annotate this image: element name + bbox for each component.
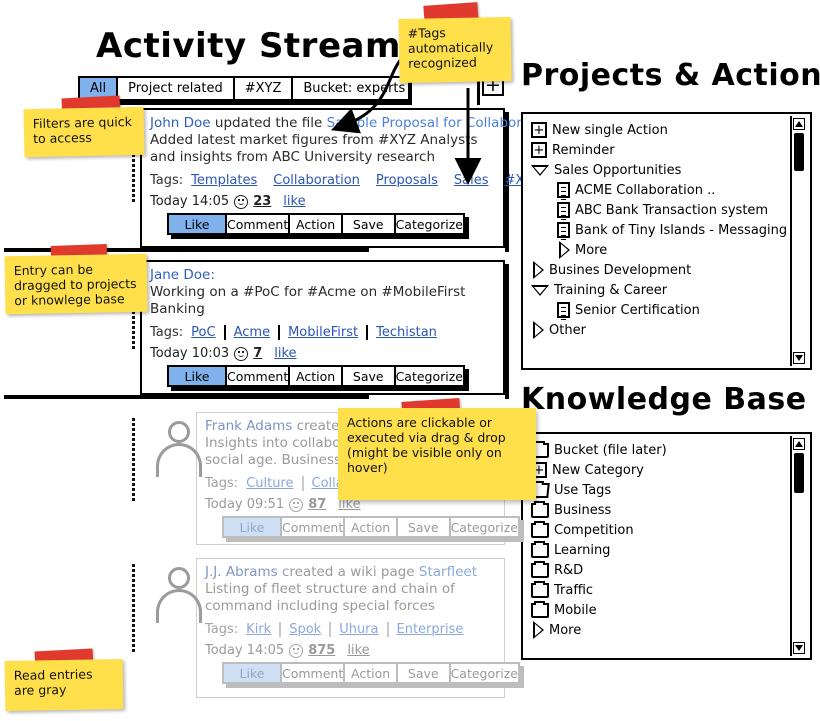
tag-link[interactable]: Proposals (376, 173, 438, 188)
tag-link[interactable]: MobileFirst (288, 325, 358, 340)
filter-tab-bar: AllProject related#XYZBucket: experts (78, 76, 408, 101)
tags-label: Tags: (150, 325, 183, 340)
categorize-button[interactable]: Categorize (451, 664, 518, 682)
knowledge-item[interactable]: Bucket (file later) (531, 440, 806, 460)
entry-actor[interactable]: John Doe (150, 115, 211, 131)
action-button[interactable]: Action (290, 367, 343, 385)
comment-button[interactable]: Comment (282, 664, 345, 682)
entry-text: Added latest market figures from #XYZ An… (150, 132, 495, 166)
project-item[interactable]: Sales Opportunities (531, 160, 806, 180)
folder-icon (531, 523, 549, 538)
tag-separator (302, 476, 304, 491)
note-actions-clickable: Actions are clickable or executed via dr… (338, 408, 536, 500)
smiley-icon (289, 498, 303, 512)
tag-link[interactable]: Uhura (339, 622, 378, 637)
tag-separator (366, 325, 368, 340)
comment-button[interactable]: Comment (282, 518, 345, 536)
note-tags-recognized: #Tags automatically recognized (398, 17, 511, 83)
project-item[interactable]: Busines Development (531, 260, 806, 280)
project-item-label: ACME Collaboration .. (575, 183, 715, 198)
avatar-shoulders (156, 443, 202, 477)
entry-actor[interactable]: Frank Adams (205, 418, 292, 434)
avatar-head (168, 567, 190, 589)
entry-timestamp: Today 14:05 (150, 194, 229, 209)
knowledge-item-label: Bucket (file later) (554, 443, 667, 458)
like-count: 7 (253, 346, 262, 361)
action-button[interactable]: Action (345, 664, 398, 682)
projects-scrollbar[interactable] (790, 116, 808, 366)
document-icon (557, 182, 570, 198)
comment-button[interactable]: Comment (227, 367, 290, 385)
tab-bar-shadow-side (408, 80, 412, 105)
folder-icon (531, 543, 549, 558)
project-item-label: ABC Bank Transaction system (575, 203, 768, 218)
entry-text: Listing of fleet structure and chain of … (205, 581, 496, 615)
triangle-right-icon (533, 621, 544, 639)
knowledge-item-label: New Category (552, 463, 644, 478)
knowledge-item-label: Competition (554, 523, 634, 538)
tag-link[interactable]: Collaboration (273, 173, 360, 188)
triangle-down-icon (531, 285, 549, 296)
knowledge-item-label: Use Tags (554, 483, 611, 498)
smiley-icon (234, 347, 248, 361)
project-item[interactable]: Bank of Tiny Islands - Messaging (531, 220, 806, 240)
avatar (153, 565, 205, 617)
knowledge-item[interactable]: More (531, 620, 806, 640)
filter-tab-project-related[interactable]: Project related (118, 78, 235, 99)
entry-verb: updated the file (211, 115, 327, 131)
document-icon (557, 202, 570, 218)
action-buttons: LikeCommentActionSaveCategorize (222, 516, 520, 538)
entry-action-bar: LikeCommentActionSaveCategorize (222, 662, 520, 684)
project-item[interactable]: ACME Collaboration .. (531, 180, 806, 200)
entry-meta-row: Today 14:05875like (205, 643, 496, 658)
save-button[interactable]: Save (398, 664, 451, 682)
project-item[interactable]: +New single Action (531, 120, 806, 140)
tags-label: Tags: (205, 622, 238, 637)
knowledge-item[interactable]: Competition (531, 520, 806, 540)
note-filters-quick: Filters are quick to access (24, 107, 145, 158)
entry-tags-row: Tags:TemplatesCollaborationProposalsSale… (150, 173, 495, 188)
document-icon (557, 302, 570, 318)
knowledge-item[interactable]: Mobile (531, 600, 806, 620)
knowledge-item-label: Learning (554, 543, 610, 558)
action-bar-shadow-side (465, 217, 469, 239)
tags-label: Tags: (205, 476, 238, 491)
drag-handle[interactable] (131, 562, 136, 692)
entry-actor[interactable]: Jane Doe: (150, 267, 215, 283)
knowledge-scrollbar[interactable] (790, 436, 808, 656)
project-item[interactable]: Other (531, 320, 806, 340)
entry-body: John Doe updated the file Sample Proposa… (142, 110, 503, 239)
entry-action-bar: LikeCommentActionSaveCategorize (167, 365, 465, 387)
project-item[interactable]: More (531, 240, 806, 260)
tag-link[interactable]: Sales (454, 173, 489, 188)
tag-link[interactable]: Templates (191, 173, 257, 188)
knowledge-item-label: R&D (554, 563, 583, 578)
page-title-knowledge-base: Knowledge Base (521, 382, 807, 417)
entry-headline: J.J. Abrams created a wiki page Starflee… (205, 564, 496, 581)
entry-meta-row: Today 10:037like (150, 346, 495, 361)
knowledge-item[interactable]: +New Category (531, 460, 806, 480)
projects-actions-panel: +New single Action+ReminderSales Opportu… (521, 112, 812, 370)
like-button[interactable]: Like (224, 518, 282, 536)
tag-separator (329, 622, 331, 637)
smiley-icon (234, 195, 248, 209)
action-button[interactable]: Action (290, 215, 343, 233)
action-bar-shadow-side (520, 520, 524, 542)
categorize-button[interactable]: Categorize (451, 518, 518, 536)
page-title-activity-stream: Activity Stream (96, 26, 401, 66)
scrollbar-thumb[interactable] (794, 133, 804, 171)
activity-entry: J.J. Abrams created a wiki page Starflee… (196, 558, 505, 698)
entry-timestamp: Today 14:05 (205, 643, 284, 658)
entry-headline: John Doe updated the file Sample Proposa… (150, 115, 495, 132)
action-buttons: LikeCommentActionSaveCategorize (222, 662, 520, 684)
tag-link[interactable]: PoC (191, 325, 215, 340)
project-item[interactable]: ABC Bank Transaction system (531, 200, 806, 220)
entry-text: Working on a #PoC for #Acme on #MobileFi… (150, 284, 495, 318)
page-title-projects-actions: Projects & Actions (521, 58, 820, 93)
entry-object-link[interactable]: Starfleet (419, 564, 477, 580)
scroll-down-icon[interactable] (793, 352, 805, 364)
entry-shadow-side (505, 264, 509, 399)
folder-icon (531, 503, 549, 518)
knowledge-item[interactable]: Learning (531, 540, 806, 560)
action-bar-shadow (226, 684, 524, 688)
like-button[interactable]: Like (169, 367, 227, 385)
folder-icon (531, 563, 549, 578)
triangle-right-icon (533, 261, 544, 279)
scroll-up-icon[interactable] (793, 118, 805, 130)
action-bar-shadow (171, 235, 469, 239)
folder-icon (531, 603, 549, 618)
action-buttons: LikeCommentActionSaveCategorize (167, 213, 465, 235)
entry-actor[interactable]: J.J. Abrams (205, 564, 278, 580)
tag-separator (387, 622, 389, 637)
plus-box-icon: + (531, 122, 547, 138)
project-item-label: Busines Development (549, 263, 691, 278)
entry-meta-row: Today 14:0523like (150, 194, 495, 209)
knowledge-tree: Bucket (file later)+New CategoryUse Tags… (523, 434, 810, 644)
action-bar-shadow-side (465, 369, 469, 391)
avatar-head (168, 421, 190, 443)
entry-shadow (4, 395, 369, 399)
entry-tags-row: Tags:KirkSpokUhuraEnterprise (205, 622, 496, 637)
entry-timestamp: Today 09:51 (205, 497, 284, 512)
categorize-button[interactable]: Categorize (396, 215, 463, 233)
tag-separator (279, 622, 281, 637)
entry-body: Jane Doe:Working on a #PoC for #Acme on … (142, 262, 503, 391)
knowledge-base-panel: Bucket (file later)+New CategoryUse Tags… (521, 432, 812, 660)
knowledge-item[interactable]: Use Tags (531, 480, 806, 500)
note-read-gray: Read entries are gray (5, 659, 124, 711)
project-item-label: Training & Career (554, 283, 667, 298)
knowledge-item[interactable]: Traffic (531, 580, 806, 600)
entry-headline: Jane Doe: (150, 267, 495, 284)
like-link[interactable]: like (347, 643, 369, 658)
projects-tree: +New single Action+ReminderSales Opportu… (523, 114, 810, 344)
like-count: 87 (308, 497, 326, 512)
scroll-up-icon[interactable] (793, 438, 805, 450)
like-button[interactable]: Like (224, 664, 282, 682)
tag-link[interactable]: Spok (289, 622, 321, 637)
tag-separator (278, 325, 280, 340)
action-bar-shadow (226, 538, 524, 542)
activity-entry: John Doe updated the file Sample Proposa… (140, 108, 505, 248)
tag-link[interactable]: Kirk (246, 622, 271, 637)
entry-verb: created a wiki page (278, 564, 419, 580)
plus-box-icon: + (531, 142, 547, 158)
knowledge-item[interactable]: R&D (531, 560, 806, 580)
filter-tabs: AllProject related#XYZBucket: experts (78, 76, 408, 101)
like-count: 875 (308, 643, 335, 658)
triangle-right-icon (559, 241, 570, 259)
knowledge-item[interactable]: Business (531, 500, 806, 520)
like-count: 23 (253, 194, 271, 209)
avatar (153, 419, 205, 471)
tag-separator (224, 325, 226, 340)
project-item-label: Bank of Tiny Islands - Messaging (575, 223, 787, 238)
tags-label: Tags: (150, 173, 183, 188)
project-item[interactable]: +Reminder (531, 140, 806, 160)
project-item-label: More (575, 243, 607, 258)
like-button[interactable]: Like (169, 215, 227, 233)
tag-link[interactable]: Techistan (376, 325, 437, 340)
save-button[interactable]: Save (343, 215, 396, 233)
save-button[interactable]: Save (343, 367, 396, 385)
tag-link[interactable]: Culture (246, 476, 293, 491)
project-item[interactable]: Senior Certification (531, 300, 806, 320)
knowledge-item-label: More (549, 623, 581, 638)
knowledge-item-label: Business (554, 503, 611, 518)
like-link[interactable]: like (274, 346, 296, 361)
entry-tags-row: Tags:PoCAcmeMobileFirstTechistan (150, 325, 495, 340)
action-bar-shadow-side (520, 666, 524, 688)
entry-action-bar: LikeCommentActionSaveCategorize (222, 516, 520, 538)
knowledge-item-label: Mobile (554, 603, 597, 618)
scrollbar-thumb[interactable] (794, 453, 804, 493)
document-icon (557, 222, 570, 238)
save-button[interactable]: Save (398, 518, 451, 536)
project-item-label: Senior Certification (575, 303, 700, 318)
project-item[interactable]: Training & Career (531, 280, 806, 300)
like-link[interactable]: like (283, 194, 305, 209)
action-buttons: LikeCommentActionSaveCategorize (167, 365, 465, 387)
filter-tab-xyz[interactable]: #XYZ (235, 78, 294, 99)
activity-entry: Jane Doe:Working on a #PoC for #Acme on … (140, 260, 505, 395)
filter-tab-bucket-experts[interactable]: Bucket: experts (293, 78, 415, 99)
project-item-label: New single Action (552, 123, 668, 138)
tag-link[interactable]: Enterprise (397, 622, 464, 637)
categorize-button[interactable]: Categorize (396, 367, 463, 385)
tag-link[interactable]: Acme (234, 325, 270, 340)
action-bar-shadow (171, 387, 469, 391)
action-button[interactable]: Action (345, 518, 398, 536)
entry-body: J.J. Abrams created a wiki page Starflee… (197, 559, 504, 688)
folder-icon (531, 583, 549, 598)
project-item-label: Other (549, 323, 586, 338)
scroll-down-icon[interactable] (793, 642, 805, 654)
entry-action-bar: LikeCommentActionSaveCategorize (167, 213, 465, 235)
triangle-down-icon (531, 165, 549, 176)
note-drag-entry: Entry can be dragged to projects or know… (5, 254, 148, 314)
tab-bar-shadow (82, 101, 412, 105)
drag-handle[interactable] (131, 416, 136, 539)
triangle-right-icon (533, 321, 544, 339)
smiley-icon (289, 644, 303, 658)
avatar-shoulders (156, 589, 202, 623)
project-item-label: Reminder (552, 143, 615, 158)
comment-button[interactable]: Comment (227, 215, 290, 233)
project-item-label: Sales Opportunities (554, 163, 681, 178)
entry-timestamp: Today 10:03 (150, 346, 229, 361)
knowledge-item-label: Traffic (554, 583, 593, 598)
